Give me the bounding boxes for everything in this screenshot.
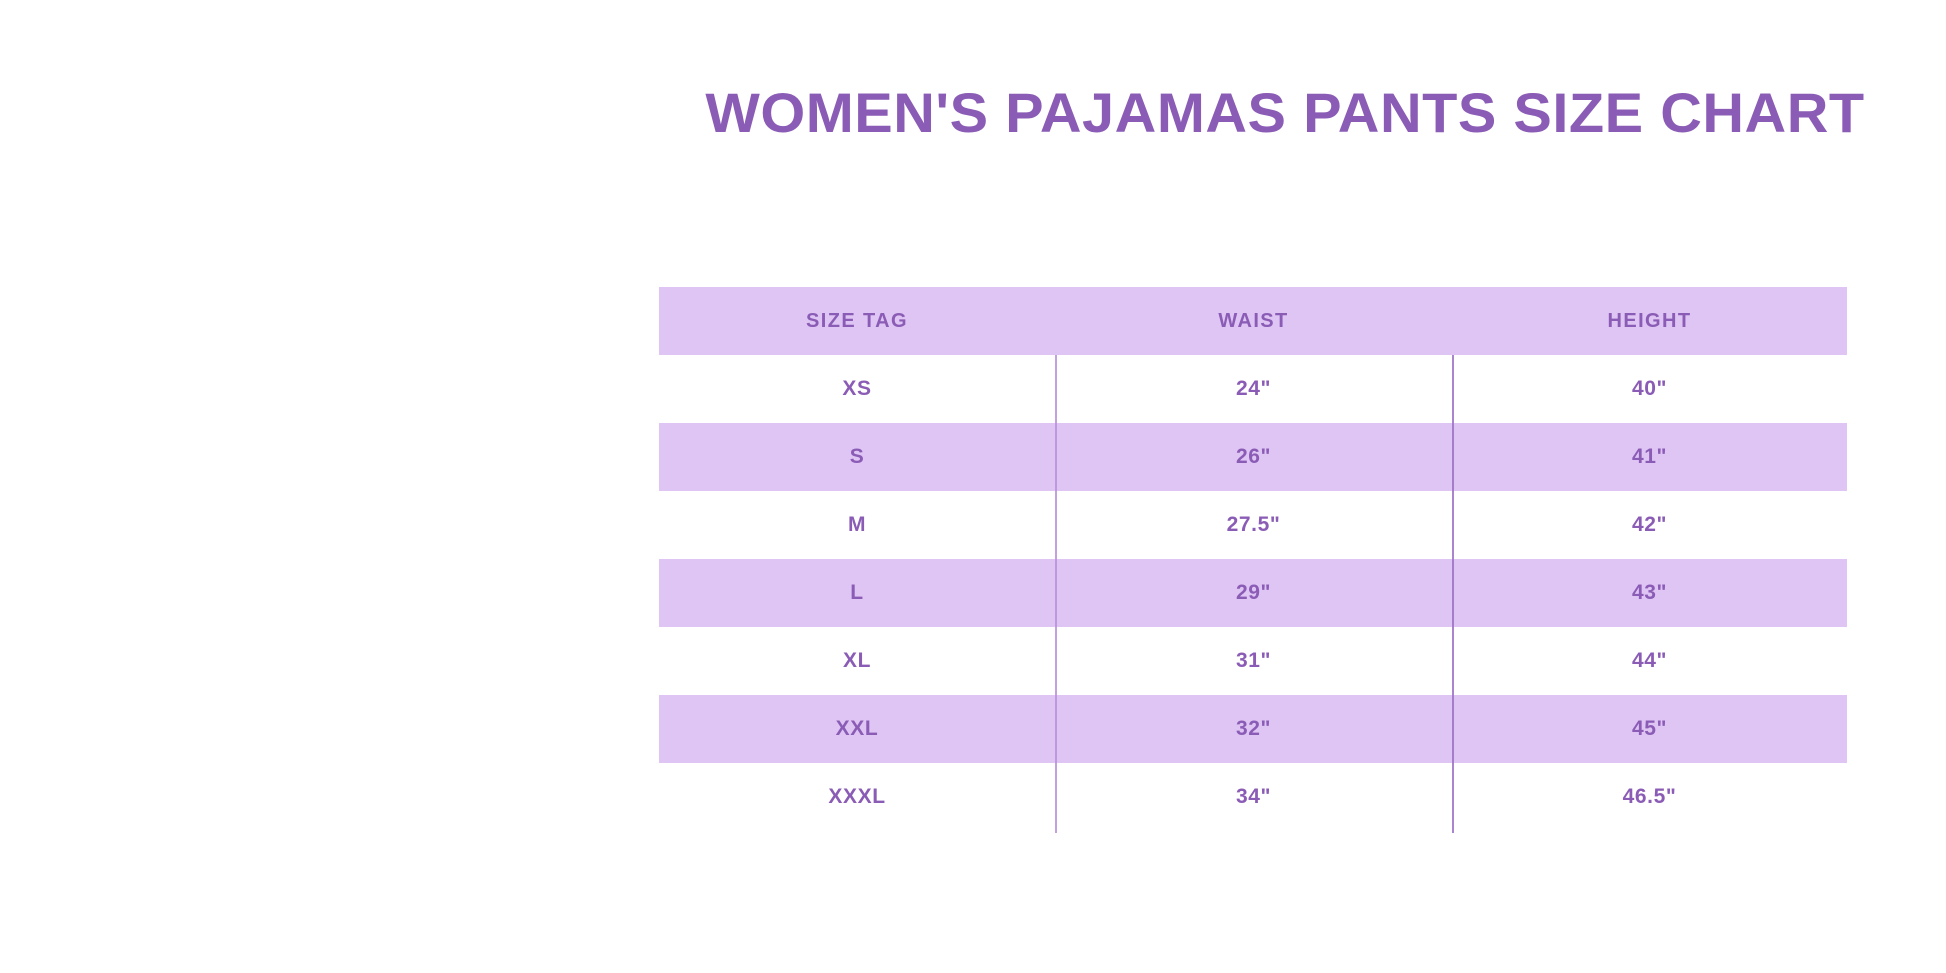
cell-size-tag: XXXL — [659, 763, 1055, 831]
cell-waist-value: 24" — [1055, 355, 1452, 423]
table-row: XS 24" 40" — [659, 355, 1847, 423]
cell-height: 40" — [1452, 355, 1847, 423]
table-row: XL 31" 44" — [659, 627, 1847, 695]
table-row: L 29" 43" — [659, 559, 1847, 627]
size-chart-table-container: SIZE TAG WAIST HEIGHT XS 24" 40" — [659, 287, 1847, 831]
cell-height-value: 41" — [1452, 423, 1847, 491]
cell-size-tag-value: L — [659, 559, 1055, 627]
column-header-size-tag-label: SIZE TAG — [659, 287, 1055, 355]
cell-waist: 34" — [1055, 763, 1452, 831]
cell-height-value: 40" — [1452, 355, 1847, 423]
cell-waist: 24" — [1055, 355, 1452, 423]
cell-height: 43" — [1452, 559, 1847, 627]
cell-waist-value: 29" — [1055, 559, 1452, 627]
column-header-height-label: HEIGHT — [1452, 287, 1847, 355]
cell-waist: 26" — [1055, 423, 1452, 491]
size-chart-page: WOMEN'S PAJAMAS PANTS SIZE CHART SIZE TA… — [0, 0, 1946, 973]
cell-size-tag-value: M — [659, 491, 1055, 559]
cell-size-tag-value: XXL — [659, 695, 1055, 763]
column-header-size-tag: SIZE TAG — [659, 287, 1055, 355]
table-row: S 26" 41" — [659, 423, 1847, 491]
cell-waist: 27.5" — [1055, 491, 1452, 559]
table-body: XS 24" 40" S 26" 41" M 27.5" 42" L 29" — [659, 355, 1847, 831]
cell-waist: 31" — [1055, 627, 1452, 695]
page-title: WOMEN'S PAJAMAS PANTS SIZE CHART — [640, 82, 1930, 144]
cell-height-value: 45" — [1452, 695, 1847, 763]
column-header-waist: WAIST — [1055, 287, 1452, 355]
cell-waist: 29" — [1055, 559, 1452, 627]
cell-waist-value: 26" — [1055, 423, 1452, 491]
cell-height: 41" — [1452, 423, 1847, 491]
cell-waist-value: 31" — [1055, 627, 1452, 695]
column-divider-1 — [1055, 355, 1057, 833]
cell-size-tag: XL — [659, 627, 1055, 695]
column-header-height: HEIGHT — [1452, 287, 1847, 355]
cell-waist-value: 27.5" — [1055, 491, 1452, 559]
cell-size-tag: M — [659, 491, 1055, 559]
cell-height-value: 46.5" — [1452, 763, 1847, 831]
cell-height: 44" — [1452, 627, 1847, 695]
cell-height-value: 44" — [1452, 627, 1847, 695]
table-header-row: SIZE TAG WAIST HEIGHT — [659, 287, 1847, 355]
size-chart-table: SIZE TAG WAIST HEIGHT XS 24" 40" — [659, 287, 1847, 831]
cell-size-tag: XXL — [659, 695, 1055, 763]
table-row: XXXL 34" 46.5" — [659, 763, 1847, 831]
cell-waist: 32" — [1055, 695, 1452, 763]
cell-size-tag: L — [659, 559, 1055, 627]
cell-size-tag: S — [659, 423, 1055, 491]
cell-height: 46.5" — [1452, 763, 1847, 831]
table-header: SIZE TAG WAIST HEIGHT — [659, 287, 1847, 355]
cell-size-tag-value: S — [659, 423, 1055, 491]
cell-size-tag: XS — [659, 355, 1055, 423]
cell-height-value: 42" — [1452, 491, 1847, 559]
cell-size-tag-value: XS — [659, 355, 1055, 423]
cell-waist-value: 32" — [1055, 695, 1452, 763]
cell-size-tag-value: XXXL — [659, 763, 1055, 831]
table-row: XXL 32" 45" — [659, 695, 1847, 763]
column-divider-2 — [1452, 355, 1454, 833]
cell-height: 42" — [1452, 491, 1847, 559]
cell-height: 45" — [1452, 695, 1847, 763]
cell-size-tag-value: XL — [659, 627, 1055, 695]
cell-waist-value: 34" — [1055, 763, 1452, 831]
cell-height-value: 43" — [1452, 559, 1847, 627]
table-row: M 27.5" 42" — [659, 491, 1847, 559]
column-header-waist-label: WAIST — [1055, 287, 1452, 355]
